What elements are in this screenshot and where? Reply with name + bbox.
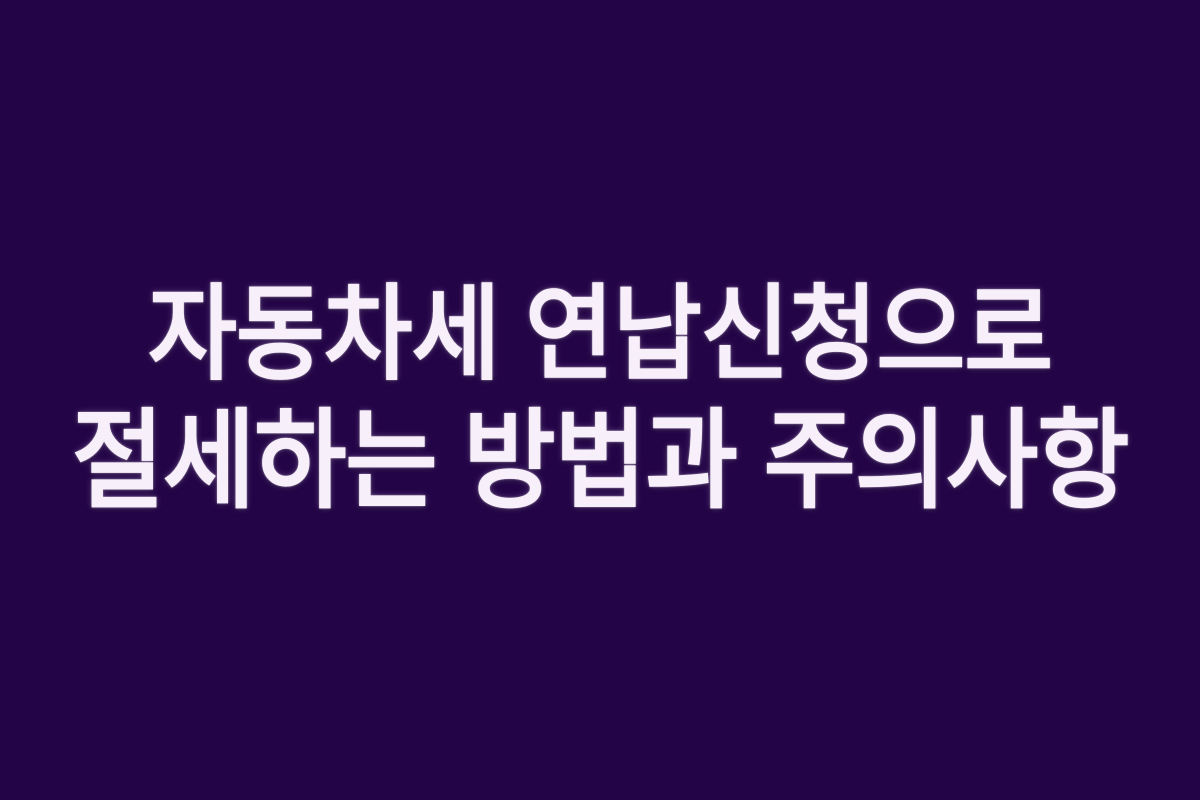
title-line-2: 절세하는 방법과 주의사항 — [59, 397, 1142, 524]
title-block: 자동차세 연납신청으로 절세하는 방법과 주의사항 — [0, 274, 1200, 524]
thumbnail-card: 자동차세 연납신청으로 절세하는 방법과 주의사항 — [0, 0, 1200, 800]
title-line-1: 자동차세 연납신청으로 — [59, 274, 1142, 397]
